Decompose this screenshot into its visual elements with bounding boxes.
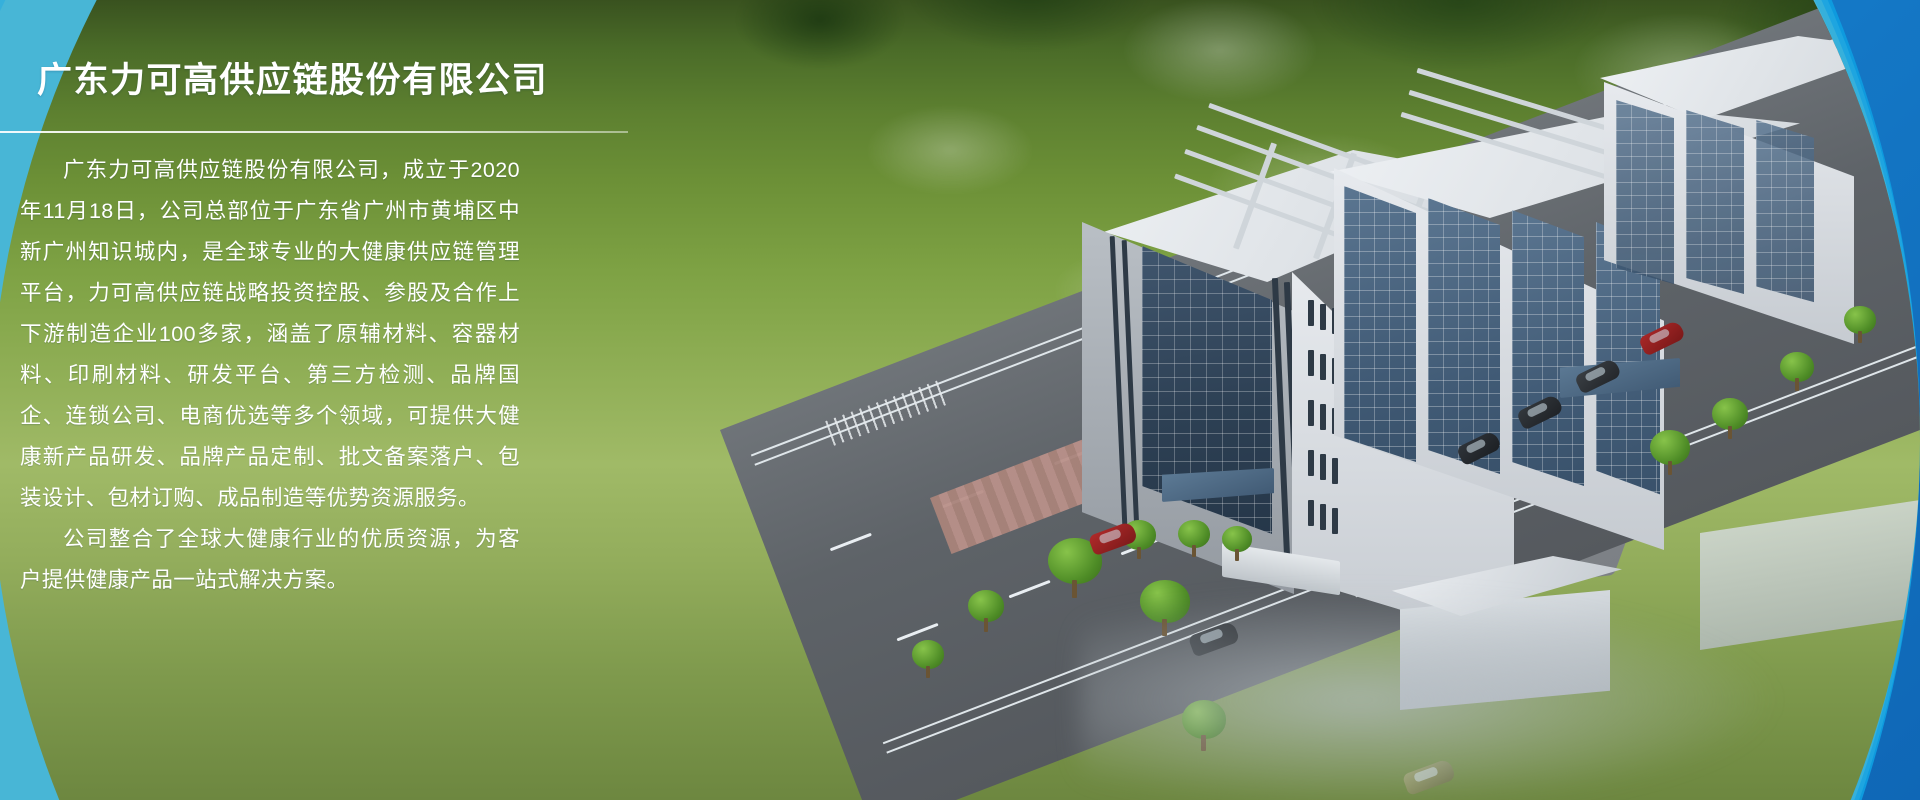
tree (1650, 430, 1690, 478)
tree (1178, 520, 1210, 558)
banner-stage: 广东力可高供应链股份有限公司 广东力可高供应链股份有限公司，成立于2020年11… (0, 0, 1920, 800)
tree (912, 640, 944, 680)
text-column: 广东力可高供应链股份有限公司 广东力可高供应链股份有限公司，成立于2020年11… (0, 0, 660, 800)
tree (1780, 352, 1814, 394)
foreground-haze (1080, 590, 1780, 800)
company-description: 广东力可高供应链股份有限公司，成立于2020年11月18日，公司总部位于广东省广… (20, 150, 520, 601)
title-divider (0, 131, 628, 133)
tree (1712, 398, 1748, 442)
paragraph-2: 公司整合了全球大健康行业的优质资源，为客户提供健康产品一站式解决方案。 (20, 519, 520, 601)
tree (968, 590, 1004, 634)
tree (1222, 526, 1252, 562)
page-title: 广东力可高供应链股份有限公司 (37, 52, 548, 103)
tree (1844, 306, 1876, 346)
paragraph-1: 广东力可高供应链股份有限公司，成立于2020年11月18日，公司总部位于广东省广… (20, 150, 520, 519)
